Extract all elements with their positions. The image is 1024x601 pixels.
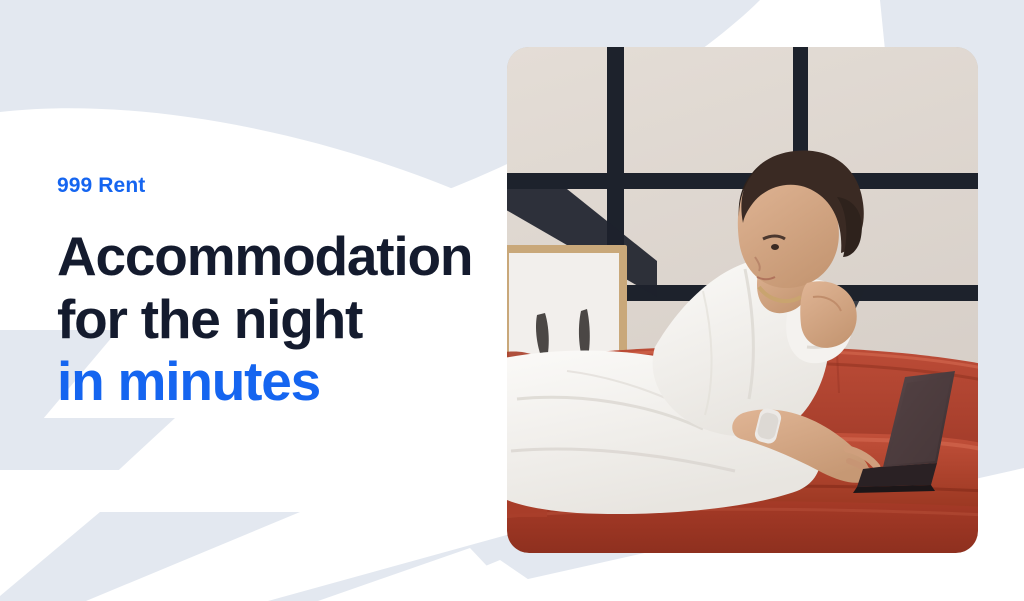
headline-line-2: for the night [57, 288, 487, 351]
headline-line-3-accent: in minutes [57, 350, 487, 413]
page-title: Accommodation for the night in minutes [57, 225, 487, 413]
promo-banner: 999 Rent Accommodation for the night in … [0, 0, 1024, 601]
hero-text-column: 999 Rent Accommodation for the night in … [57, 174, 487, 413]
headline-line-1: Accommodation [57, 225, 487, 288]
hero-photo [507, 47, 978, 553]
hero-photo-card [507, 47, 978, 553]
brand-eyebrow: 999 Rent [57, 174, 487, 197]
